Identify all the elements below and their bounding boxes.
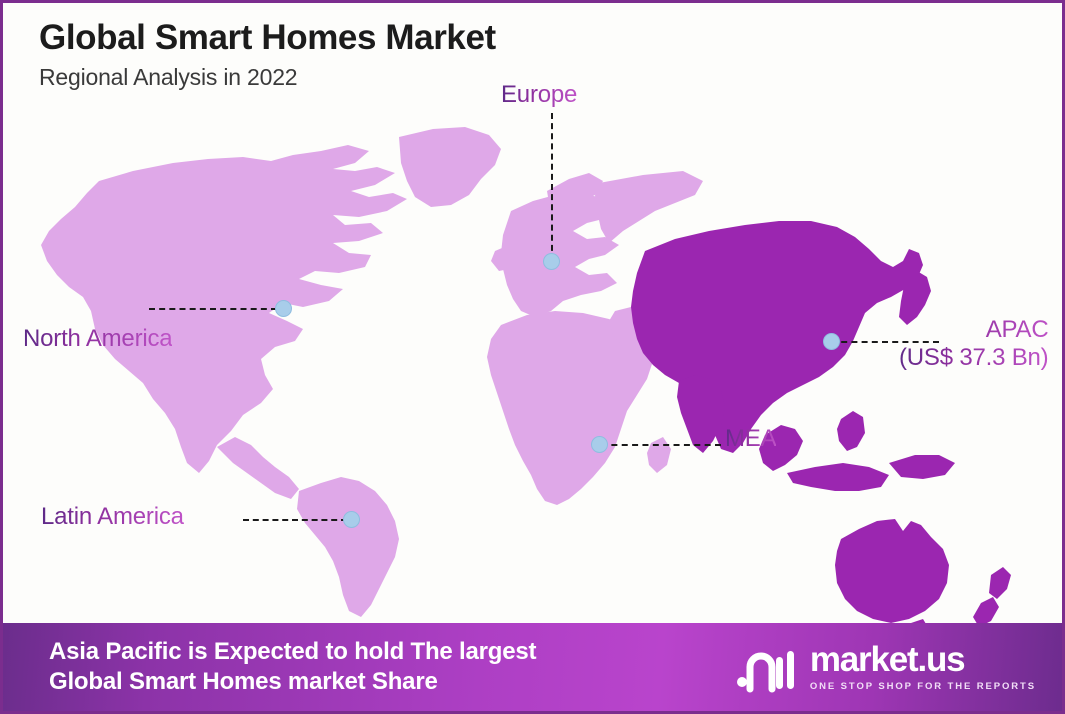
map-marker-apac[interactable] [823, 333, 840, 350]
footer-message-line-2: Global Smart Homes market Share [49, 667, 536, 697]
region-label-mea: MEA [725, 425, 776, 453]
region-label-europe: Europe [501, 81, 577, 109]
logo-tagline: ONE STOP SHOP FOR THE REPORTS [810, 681, 1036, 692]
region-indonesia [787, 463, 889, 491]
logo-wordmark: market.us [810, 642, 1036, 677]
map-marker-europe[interactable] [543, 253, 560, 270]
region-madagascar [647, 437, 671, 473]
region-philippines [837, 411, 865, 451]
footer-message-line-1: Asia Pacific is Expected to hold The lar… [49, 637, 536, 667]
market-us-logo-icon [736, 641, 798, 693]
map-marker-latin-america[interactable] [343, 511, 360, 528]
header: Global Smart Homes Market Regional Analy… [39, 19, 496, 91]
footer-banner: Asia Pacific is Expected to hold The lar… [3, 623, 1062, 711]
map-marker-north-america[interactable] [275, 300, 292, 317]
region-new-guinea [889, 455, 955, 479]
leader-line-north-america [149, 308, 277, 310]
region-greenland [399, 127, 501, 207]
map-marker-mea[interactable] [591, 436, 608, 453]
region-russia-west [595, 171, 703, 243]
region-apac-mainland [631, 221, 923, 453]
market-us-logo[interactable]: market.us ONE STOP SHOP FOR THE REPORTS [736, 641, 1036, 693]
infographic-page: Global Smart Homes Market Regional Analy… [0, 0, 1065, 714]
map-base-regions [41, 127, 739, 617]
region-south-america [297, 477, 399, 617]
leader-line-europe [551, 113, 553, 261]
region-label-latin-america: Latin America [41, 503, 184, 531]
region-label-apac: APAC (US$ 37.3 Bn) [899, 316, 1048, 372]
leader-line-latin-america [243, 519, 347, 521]
leader-line-mea [601, 444, 721, 446]
logo-text-block: market.us ONE STOP SHOP FOR THE REPORTS [810, 642, 1036, 692]
footer-message: Asia Pacific is Expected to hold The lar… [49, 637, 536, 697]
region-label-apac-name: APAC [986, 316, 1049, 343]
page-title: Global Smart Homes Market [39, 19, 496, 58]
region-new-zealand [973, 567, 1011, 623]
map-apac-highlight [631, 221, 1011, 623]
region-label-north-america: North America [23, 325, 172, 353]
region-label-apac-value: (US$ 37.3 Bn) [899, 344, 1048, 372]
region-central-america [217, 437, 299, 499]
page-subtitle: Regional Analysis in 2022 [39, 64, 496, 91]
region-australia [835, 519, 949, 623]
